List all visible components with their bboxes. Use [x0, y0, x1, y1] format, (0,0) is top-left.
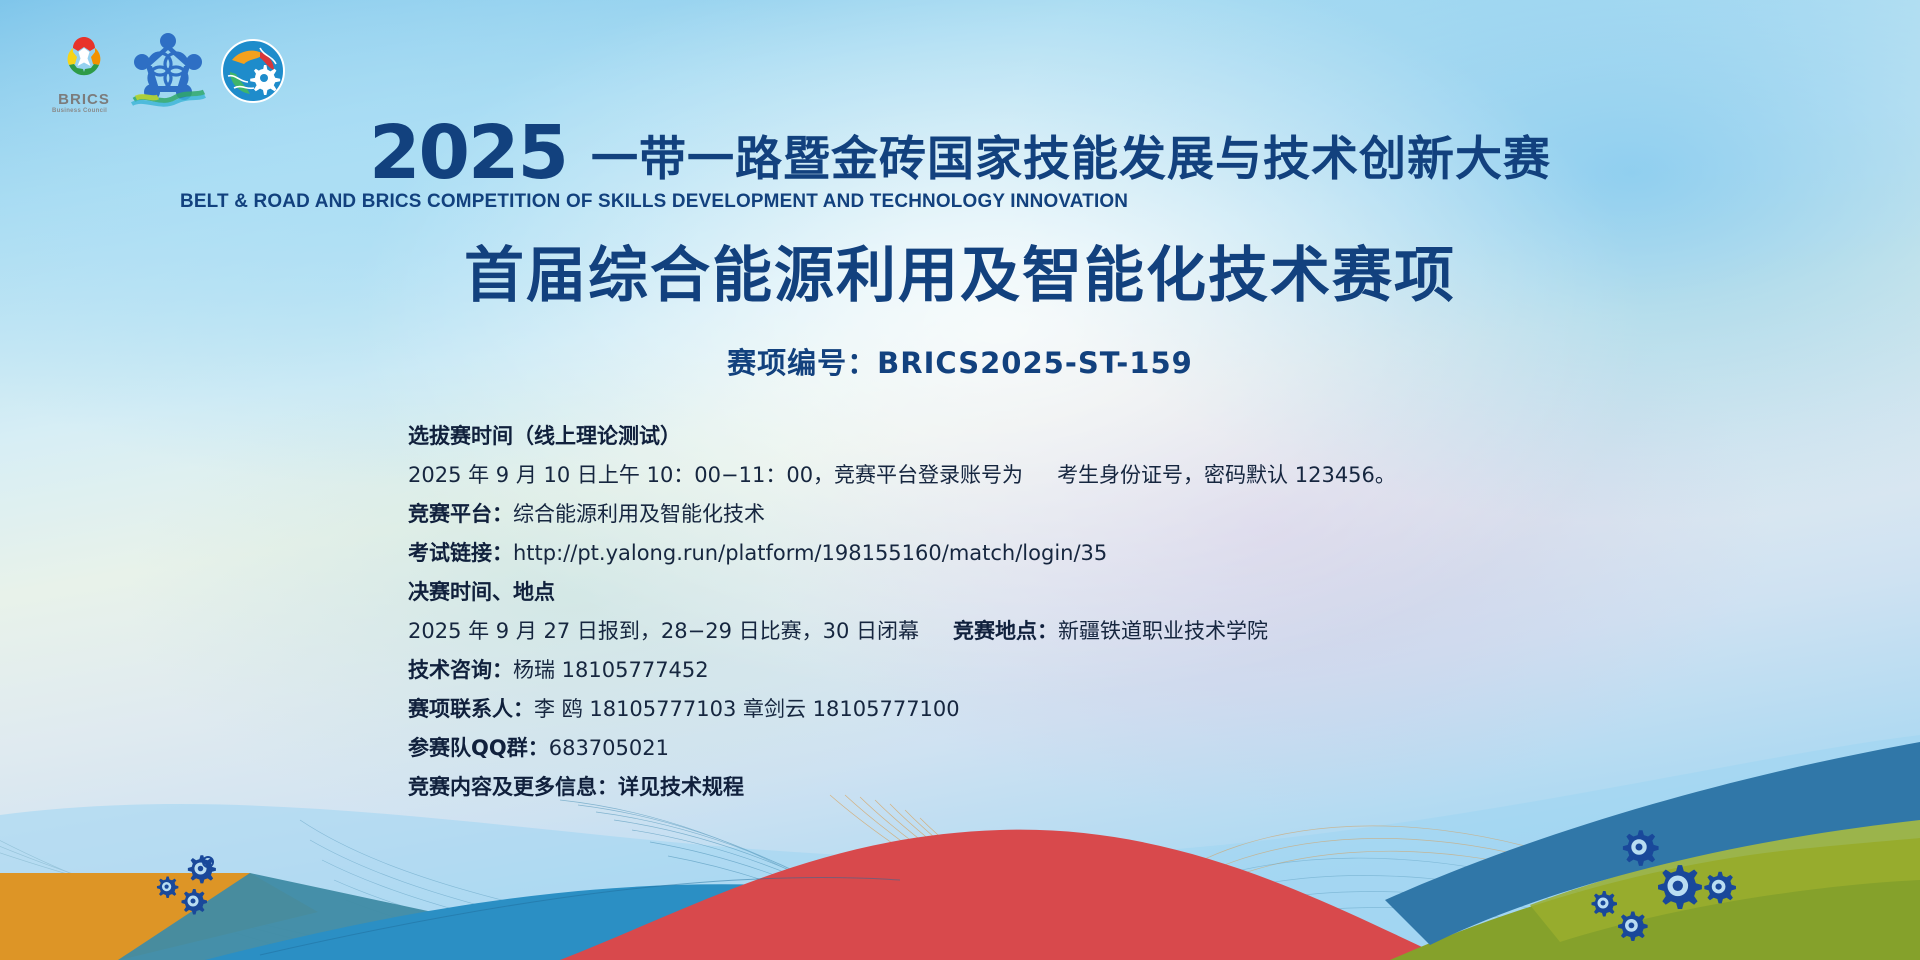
row-platform: 竞赛平台：综合能源利用及智能化技术	[408, 498, 1728, 528]
row-exam-link: 考试链接：http://pt.yalong.run/platform/19815…	[408, 537, 1728, 567]
competition-code-value: BRICS2025-ST-159	[877, 346, 1193, 380]
year-2025: 2025	[369, 120, 567, 186]
row-final-heading: 决赛时间、地点	[408, 576, 1728, 606]
tech-support-label: 技术咨询：	[408, 658, 513, 682]
headline-line: 2025 一带一路暨金砖国家技能发展与技术创新大赛	[0, 120, 1920, 186]
brics-star-icon	[52, 34, 116, 86]
exam-link-label: 考试链接：	[408, 541, 513, 565]
competition-code: 赛项编号：BRICS2025-ST-159	[0, 340, 1920, 382]
competition-code-label: 赛项编号：	[727, 346, 877, 380]
contact-value: 李 鸥 18105777103 章剑云 18105777100	[534, 697, 960, 721]
competition-en-title: BELT & ROAD AND BRICS COMPETITION OF SKI…	[180, 190, 1868, 213]
exam-link-value[interactable]: http://pt.yalong.run/platform/198155160/…	[513, 541, 1107, 565]
more-info-value: 详见技术规程	[618, 775, 744, 799]
gear-cluster-left-icon	[150, 830, 270, 940]
final-heading: 决赛时间、地点	[408, 580, 555, 604]
worldskills-emblem-logo	[130, 30, 206, 108]
row-selection-heading: 选拔赛时间（线上理论测试）	[408, 420, 1728, 450]
brics-business-council-logo: BRICS Business Council	[52, 34, 116, 108]
row-qq-group: 参赛队QQ群：683705021	[408, 732, 1728, 762]
logo-row: BRICS Business Council	[52, 30, 286, 108]
details-block: 选拔赛时间（线上理论测试） 2025 年 9 月 10 日上午 10：00−11…	[408, 420, 1728, 810]
poster-canvas: BRICS Business Council	[0, 0, 1920, 960]
gear-cluster-right-icon	[1590, 820, 1780, 960]
qq-group-value: 683705021	[549, 736, 669, 760]
row-selection-time: 2025 年 9 月 10 日上午 10：00−11：00，竞赛平台登录账号为考…	[408, 459, 1728, 489]
contact-label: 赛项联系人：	[408, 697, 534, 721]
qq-group-label: 参赛队QQ群：	[408, 736, 549, 760]
platform-value: 综合能源利用及智能化技术	[513, 502, 765, 526]
venue-label: 竞赛地点：	[953, 619, 1058, 643]
row-contact: 赛项联系人：李 鸥 18105777103 章剑云 18105777100	[408, 693, 1728, 723]
selection-time-text-2: 考生身份证号，密码默认 123456。	[1057, 463, 1396, 487]
competition-cn-title: 一带一路暨金砖国家技能发展与技术创新大赛	[591, 134, 1551, 186]
row-more-info: 竞赛内容及更多信息：详见技术规程	[408, 771, 1728, 801]
more-info-label: 竞赛内容及更多信息：	[408, 775, 618, 799]
final-time-value: 2025 年 9 月 27 日报到，28−29 日比赛，30 日闭幕	[408, 619, 919, 643]
header-block: 2025 一带一路暨金砖国家技能发展与技术创新大赛 BELT & ROAD AN…	[0, 120, 1920, 382]
row-final-time: 2025 年 9 月 27 日报到，28−29 日比赛，30 日闭幕竞赛地点：新…	[408, 615, 1728, 645]
page-title: 首届综合能源利用及智能化技术赛项	[0, 227, 1920, 314]
tech-support-value: 杨瑞 18105777452	[513, 658, 709, 682]
competition-globe-logo	[220, 38, 286, 104]
brics-logo-subtext: Business Council	[52, 107, 116, 115]
venue-value: 新疆铁道职业技术学院	[1058, 619, 1268, 643]
selection-heading: 选拔赛时间（线上理论测试）	[408, 424, 681, 448]
row-tech-support: 技术咨询：杨瑞 18105777452	[408, 654, 1728, 684]
platform-label: 竞赛平台：	[408, 502, 513, 526]
brics-logo-text: BRICS	[52, 92, 116, 107]
selection-time-text: 2025 年 9 月 10 日上午 10：00−11：00，竞赛平台登录账号为	[408, 463, 1023, 487]
